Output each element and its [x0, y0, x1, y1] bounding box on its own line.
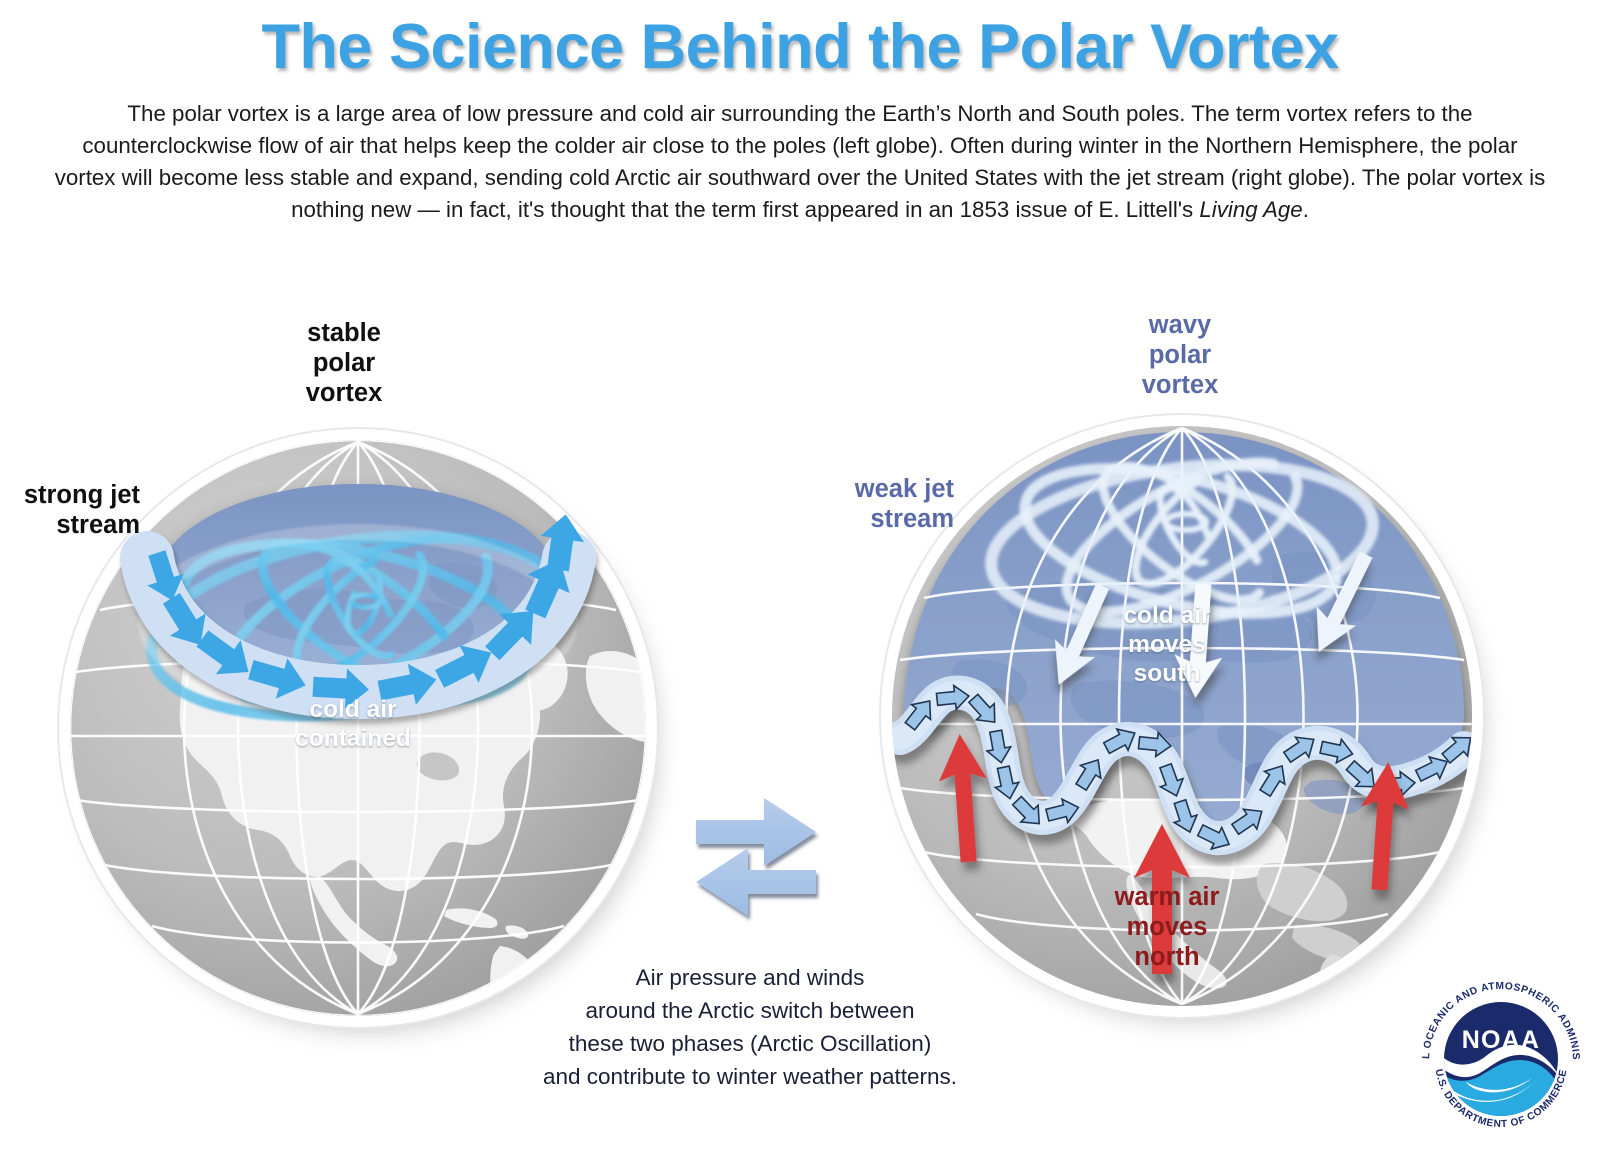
- strong-jet-stream-band: [121, 452, 595, 700]
- header: The Science Behind the Polar Vortex The …: [0, 0, 1600, 226]
- diagram-stage: stable polar vortex strong jet stream co…: [0, 256, 1600, 1155]
- label-cold-air-contained: cold air contained: [258, 696, 448, 754]
- label-warm-air-moves-north: warm air moves north: [1072, 882, 1262, 972]
- intro-italic-title: Living Age: [1199, 197, 1302, 222]
- stable-polar-vortex-globe: stable polar vortex strong jet stream co…: [70, 440, 646, 1016]
- arctic-oscillation-caption: Air pressure and winds around the Arctic…: [500, 961, 1000, 1093]
- wavy-polar-vortex-globe: wavy polar vortex weak jet stream cold a…: [892, 426, 1472, 1006]
- noaa-logo[interactable]: NATIONAL OCEANIC AND ATMOSPHERIC ADMINIS…: [1408, 964, 1594, 1150]
- page-title: The Science Behind the Polar Vortex: [0, 14, 1600, 80]
- label-weak-jet-stream: weak jet stream: [784, 474, 954, 534]
- noaa-acronym: NOAA: [1462, 1026, 1540, 1054]
- arrow-left-icon: [696, 848, 816, 916]
- intro-text-part1: The polar vortex is a large area of low …: [55, 101, 1546, 222]
- arctic-oscillation-swap-arrows: [690, 786, 830, 916]
- label-wavy-polar-vortex: wavy polar vortex: [1100, 310, 1260, 400]
- label-cold-air-moves-south: cold air moves south: [1072, 602, 1262, 689]
- intro-text-part2: .: [1303, 197, 1309, 222]
- arrow-right-icon: [696, 798, 816, 866]
- label-stable-polar-vortex: stable polar vortex: [264, 318, 424, 408]
- intro-paragraph: The polar vortex is a large area of low …: [50, 98, 1550, 226]
- label-strong-jet-stream: strong jet stream: [0, 480, 140, 540]
